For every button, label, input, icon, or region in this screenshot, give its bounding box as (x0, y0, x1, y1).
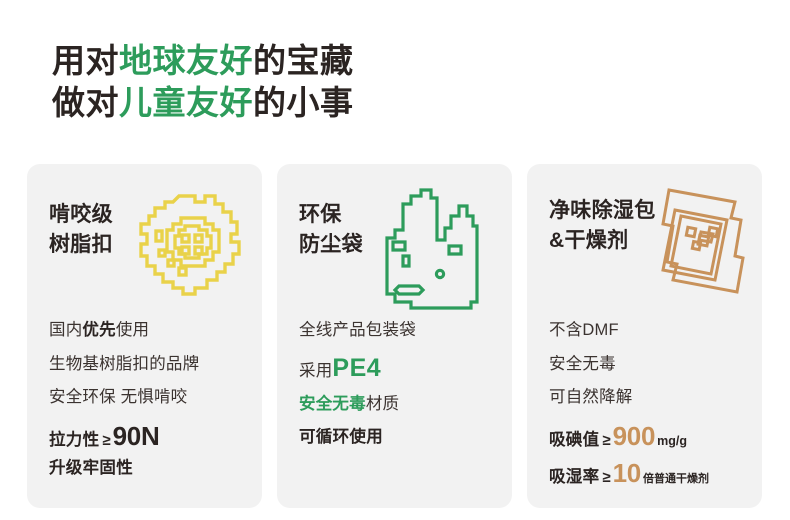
card-body: 国内优先使用 生物基树脂扣的品牌 安全环保 无惧啃咬 拉力性≥90N 升级牢固性 (49, 322, 252, 508)
card-title-line-2: 防尘袋 (299, 230, 363, 260)
text-fragment-emphasis: 安全无毒 (299, 395, 366, 413)
feature-card-dehumidifier-sachet[interactable]: 净味除湿包 &干燥剂 不含DMF 安全无毒 可自然降解 吸碘值≥900mg/g … (527, 164, 762, 508)
feature-card-list: 啃咬级 树脂扣 国内优先使用 生物基树脂扣的品牌 安全环保 无惧啃咬 拉力性≥9… (27, 164, 763, 508)
stat-subtitle: 可循环使用 (299, 428, 383, 446)
stat-label: 拉力性 (49, 431, 99, 449)
page-title-line-2-suffix: 的小事 (253, 84, 354, 121)
page-title: 用对地球友好的宝藏 做对儿童友好的小事 (52, 40, 354, 124)
card-body: 不含DMF 安全无毒 可自然降解 吸碘值≥900mg/g 吸湿率≥10倍普通干燥… (549, 322, 752, 508)
card-stats: 吸碘值≥900mg/g 吸湿率≥10倍普通干燥剂 (549, 423, 752, 486)
stat-subtitle-row: 可循环使用 (299, 429, 502, 446)
card-title: 啃咬级 树脂扣 (49, 200, 113, 260)
card-feature-line: 可自然降解 (549, 389, 752, 406)
page-title-line-2-prefix: 做对 (52, 84, 119, 121)
eco-dust-bag-icon (355, 182, 485, 322)
card-body: 全线产品包装袋 采用PE4 安全无毒材质 可循环使用 (299, 322, 502, 508)
text-fragment: 国内 (49, 321, 82, 339)
page-title-line-1: 用对地球友好的宝藏 (52, 40, 354, 82)
stat-row: 拉力性≥90N (49, 423, 252, 449)
text-fragment: 材质 (366, 395, 399, 413)
card-title: 环保 防尘袋 (299, 200, 363, 260)
card-stats: 拉力性≥90N 升级牢固性 (49, 423, 252, 477)
card-feature-line: 生物基树脂扣的品牌 (49, 356, 252, 373)
stat-subtitle-row: 升级牢固性 (49, 460, 252, 477)
stat-row: 吸碘值≥900mg/g (549, 423, 752, 449)
stat-value: 900 (613, 421, 655, 451)
page-title-line-2: 做对儿童友好的小事 (52, 82, 354, 124)
stat-label: 吸碘值 (549, 431, 599, 449)
stat-operator: ≥ (602, 432, 610, 449)
card-title-line-2: &干燥剂 (549, 226, 656, 256)
card-title-line-1: 啃咬级 (49, 200, 113, 230)
card-feature-line: 不含DMF (549, 322, 752, 339)
card-title-line-1: 净味除湿包 (549, 196, 656, 226)
card-stats: 可循环使用 (299, 429, 502, 446)
card-feature-line: 安全环保 无惧啃咬 (49, 389, 252, 406)
stat-unit: 倍普通干燥剂 (643, 473, 709, 485)
text-fragment-emphasis: 优先 (82, 321, 115, 339)
stat-label: 吸湿率 (549, 468, 599, 486)
text-fragment-emphasis: PE4 (332, 354, 381, 382)
page-title-line-2-accent: 儿童友好 (119, 84, 253, 121)
stat-operator: ≥ (602, 469, 610, 486)
card-title: 净味除湿包 &干燥剂 (549, 196, 656, 256)
text-fragment: 使用 (116, 321, 149, 339)
stat-unit: mg/g (657, 434, 687, 448)
card-feature-line: 全线产品包装袋 (299, 322, 502, 339)
feature-card-resin-buckle[interactable]: 啃咬级 树脂扣 国内优先使用 生物基树脂扣的品牌 安全环保 无惧啃咬 拉力性≥9… (27, 164, 262, 508)
page-title-line-1-prefix: 用对 (52, 42, 119, 79)
page-title-line-1-accent: 地球友好 (119, 42, 253, 79)
feature-card-dust-bag[interactable]: 环保 防尘袋 全线产品包装袋 采用PE4 安全无毒材质 可循环使用 (277, 164, 512, 508)
text-fragment: 采用 (299, 362, 332, 380)
card-feature-line: 安全无毒材质 (299, 396, 502, 413)
stat-subtitle: 升级牢固性 (49, 459, 133, 477)
page-title-line-1-suffix: 的宝藏 (253, 42, 354, 79)
card-feature-line: 采用PE4 (299, 356, 502, 381)
card-feature-line: 国内优先使用 (49, 322, 252, 339)
card-title-line-2: 树脂扣 (49, 230, 113, 260)
card-title-line-1: 环保 (299, 200, 363, 230)
stat-row: 吸湿率≥10倍普通干燥剂 (549, 460, 752, 486)
stat-value: 10 (613, 458, 641, 488)
stat-value: 90N (113, 421, 160, 451)
bite-resistant-resin-buckle-icon (135, 190, 245, 307)
card-feature-line: 安全无毒 (549, 356, 752, 373)
stat-operator: ≥ (102, 432, 110, 449)
